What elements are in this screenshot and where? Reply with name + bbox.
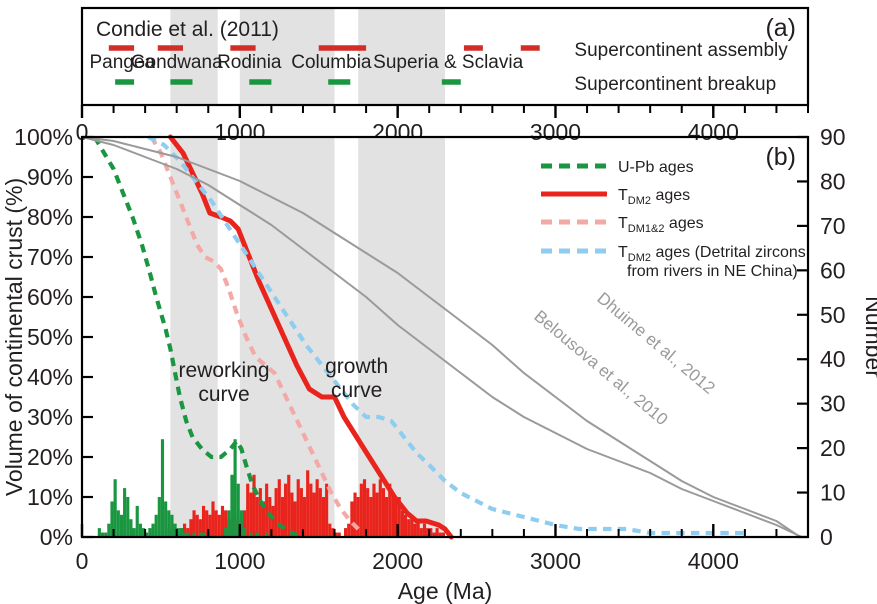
supercontinent-label-superia-sclavia: Superia & Sclavia (373, 52, 523, 73)
histogram-bar-tdm2 (265, 484, 268, 537)
y-left-tick-label: 80% (27, 204, 73, 230)
legend-label-1: TDM2 ages (618, 187, 690, 207)
y-right-tick-label: 80 (820, 168, 846, 194)
histogram-bar-tdm2 (420, 528, 423, 537)
panel-b-x-tick-label: 1000 (214, 548, 265, 574)
y-left-tick-label: 100% (14, 124, 73, 150)
histogram-bar-tdm2 (357, 497, 360, 537)
panel-a-label: (a) (765, 14, 796, 42)
panel-b-x-tick-label: 2000 (372, 548, 423, 574)
histogram-bar-upb (167, 510, 170, 537)
legend-label-breakup: Supercontinent breakup (574, 74, 776, 95)
histogram-bar-tdm2 (281, 497, 284, 537)
histogram-bar-upb (136, 506, 139, 537)
y-left-tick-label: 70% (27, 244, 73, 270)
y-right-tick-label: 40 (820, 346, 846, 372)
figure-root: Condie et al. (2011)(a)PangeaGondwanaRod… (0, 0, 877, 604)
histogram-bar-tdm2 (221, 506, 224, 537)
histogram-bar-tdm2 (360, 484, 363, 537)
histogram-bar-upb (114, 479, 117, 537)
histogram-bar-tdm2 (401, 510, 404, 537)
histogram-bar-upb (151, 524, 154, 537)
histogram-bar-upb (227, 510, 230, 537)
histogram-bar-tdm2 (363, 479, 366, 537)
panel-b-label: (b) (765, 143, 796, 171)
panel-b-x-tick-label: 4000 (688, 548, 739, 574)
histogram-bar-tdm2 (202, 506, 205, 537)
histogram-bar-tdm2 (404, 515, 407, 537)
legend-label-3: TDM2 ages (Detrital zircons (618, 244, 806, 264)
histogram-bar-tdm2 (218, 515, 221, 537)
supercontinent-band-b-2 (358, 137, 445, 537)
histogram-bar-upb (230, 475, 233, 537)
supercontinent-label-gondwana: Gondwana (131, 52, 223, 73)
histogram-bar-tdm2 (215, 510, 218, 537)
histogram-bar-tdm2 (306, 470, 309, 537)
histogram-bar-upb (180, 528, 183, 537)
histogram-bar-tdm2 (319, 488, 322, 537)
y-left-tick-label: 20% (27, 444, 73, 470)
histogram-bar-tdm2 (249, 493, 252, 537)
y-right-tick-label: 70 (820, 213, 846, 239)
histogram-bar-upb (170, 515, 173, 537)
histogram-bar-tdm2 (312, 493, 315, 537)
y-left-tick-label: 90% (27, 164, 73, 190)
histogram-bar-tdm2 (344, 528, 347, 537)
histogram-bar-upb (107, 524, 110, 537)
histogram-bar-tdm2 (347, 524, 350, 537)
y-left-tick-label: 40% (27, 364, 73, 390)
panel-b-x-tick-label: 0 (76, 548, 89, 574)
histogram-bar-tdm2 (278, 479, 281, 537)
histogram-bar-tdm2 (325, 484, 328, 537)
histogram-bar-tdm2 (290, 493, 293, 537)
histogram-bar-tdm2 (382, 488, 385, 537)
y-right-tick-label: 0 (820, 524, 833, 550)
histogram-bar-upb (234, 439, 237, 537)
y-right-tick-label: 10 (820, 480, 846, 506)
panel-a-tick-label: 3000 (530, 119, 581, 145)
panel-b-x-tick-label: 3000 (530, 548, 581, 574)
histogram-bar-tdm2 (284, 484, 287, 537)
histogram-bar-upb (123, 488, 126, 537)
histogram-bar-upb (133, 528, 136, 537)
histogram-bar-tdm2 (372, 484, 375, 537)
panel-a-tick-label: 4000 (688, 119, 739, 145)
histogram-bar-upb (98, 528, 101, 537)
y-right-tick-label: 30 (820, 391, 846, 417)
histogram-bar-upb (158, 497, 161, 537)
histogram-bar-upb (120, 515, 123, 537)
histogram-bar-upb (155, 515, 158, 537)
histogram-bar-upb (139, 524, 142, 537)
y-left-tick-label: 0% (40, 524, 73, 550)
annotation-growth-curve-line2: curve (331, 379, 382, 402)
histogram-bar-upb (129, 519, 132, 537)
histogram-bar-upb (117, 510, 120, 537)
legend-label-assembly: Supercontinent assembly (574, 40, 788, 61)
histogram-bar-tdm2 (189, 519, 192, 537)
x-axis-title: Age (Ma) (398, 578, 493, 604)
histogram-bar-tdm2 (350, 501, 353, 537)
y-left-tick-label: 30% (27, 404, 73, 430)
supercontinent-label-rodinia: Rodinia (217, 52, 282, 73)
y-right-tick-label: 90 (820, 124, 846, 150)
histogram-bar-tdm2 (275, 488, 278, 537)
panel-a: Condie et al. (2011)(a)PangeaGondwanaRod… (76, 8, 808, 145)
histogram-bar-tdm2 (353, 493, 356, 537)
histogram-bar-tdm2 (256, 497, 259, 537)
legend-label-2: TDM1&2 ages (618, 215, 704, 235)
histogram-bar-tdm2 (309, 484, 312, 537)
annotation-reworking-curve-line1: reworking (179, 359, 270, 382)
histogram-bar-tdm2 (328, 524, 331, 537)
histogram-bar-tdm2 (259, 488, 262, 537)
y-left-tick-label: 10% (27, 484, 73, 510)
histogram-bar-tdm2 (316, 479, 319, 537)
histogram-bar-upb (243, 528, 246, 537)
panel-b-legend: U-Pb agesTDM2 agesTDM1&2 agesTDM2 ages (… (541, 159, 806, 280)
y-axis-left-title: Volume of continental crust (%) (1, 178, 27, 496)
histogram-bar-tdm2 (297, 479, 300, 537)
histogram-bar-tdm2 (196, 515, 199, 537)
panel-b: Dhuime et al., 2012Belousova et al., 201… (1, 124, 877, 604)
y-axis-right-title: Number (861, 296, 877, 378)
histogram-bar-upb (164, 501, 167, 537)
histogram-bar-tdm2 (423, 524, 426, 537)
histogram-bar-upb (161, 439, 164, 537)
y-left-tick-label: 50% (27, 324, 73, 350)
histogram-bar-tdm2 (436, 528, 439, 537)
y-left-tick-label: 60% (27, 284, 73, 310)
annotation-growth-curve-line1: growth (325, 355, 388, 378)
supercontinent-label-columbia: Columbia (291, 52, 372, 73)
histogram-bar-tdm2 (287, 475, 290, 537)
histogram-bar-upb (148, 528, 151, 537)
annotation-reworking-curve-line2: curve (198, 383, 249, 406)
histogram-bar-tdm2 (379, 479, 382, 537)
y-right-tick-label: 20 (820, 435, 846, 461)
histogram-bar-tdm2 (407, 519, 410, 537)
histogram-bar-tdm2 (252, 475, 255, 537)
legend-label-0: U-Pb ages (618, 159, 694, 176)
histogram-bar-upb (224, 528, 227, 537)
y-right-tick-label: 50 (820, 302, 846, 328)
panel-b-y-axis-right: 0102030405060708090 (797, 124, 846, 550)
legend-label-3-line2: from rivers in NE China) (627, 263, 798, 280)
histogram-bar-tdm2 (322, 497, 325, 537)
y-right-tick-label: 60 (820, 257, 846, 283)
histogram-bar-upb (126, 497, 129, 537)
histogram-bar-tdm2 (369, 497, 372, 537)
histogram-bar-tdm2 (211, 501, 214, 537)
panel-a-title: Condie et al. (2011) (96, 18, 279, 41)
histogram-bar-tdm2 (413, 524, 416, 537)
histogram-bar-tdm2 (385, 497, 388, 537)
histogram-bar-tdm2 (246, 484, 249, 537)
histogram-bar-tdm2 (376, 493, 379, 537)
